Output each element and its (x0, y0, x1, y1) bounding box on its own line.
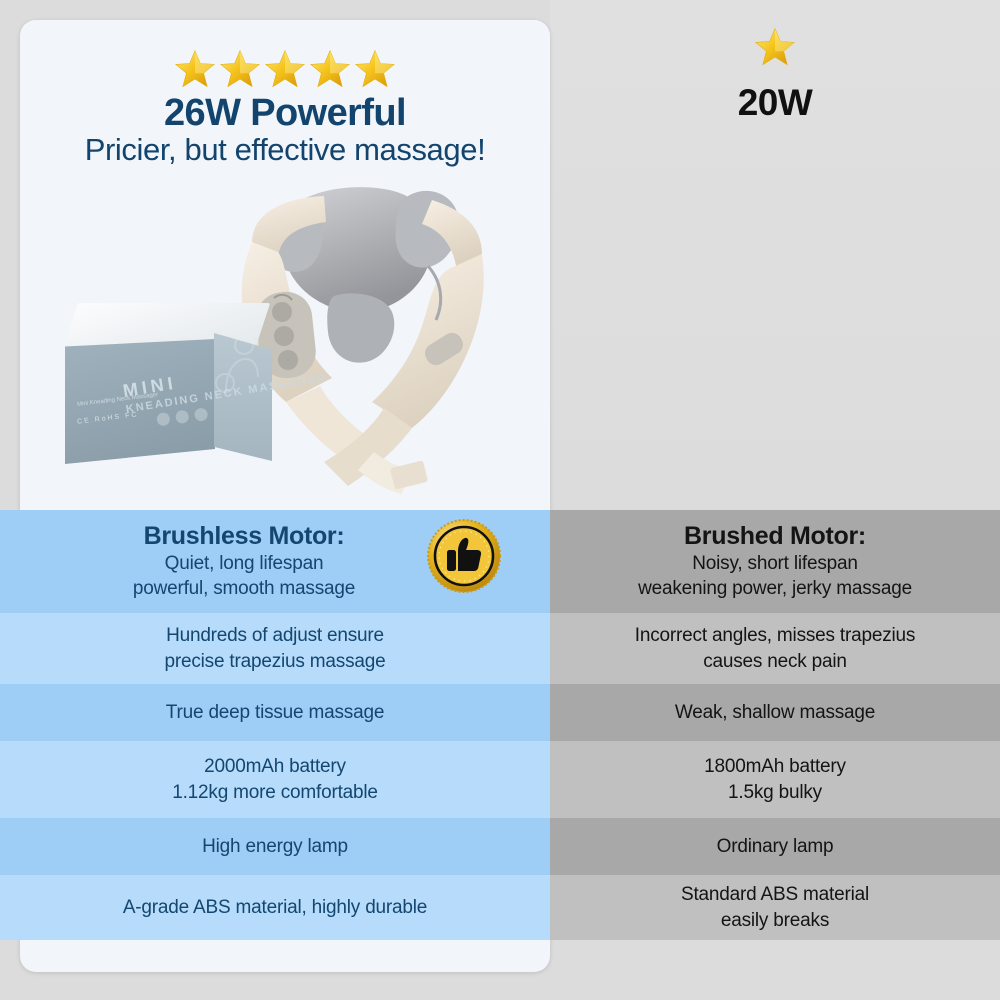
star-icon (174, 48, 216, 90)
comparison-row-text: 2000mAh battery (204, 754, 346, 780)
comparison-row: A-grade ABS material, highly durableStan… (0, 875, 1000, 940)
competitor-hero: 20W (550, 0, 1000, 510)
comparison-row-text: Incorrect angles, misses trapezius (635, 623, 915, 649)
comparison-row-text: 1.12kg more comfortable (172, 780, 378, 806)
comparison-cell-competitor: Brushed Motor:Noisy, short lifespanweake… (550, 510, 1000, 613)
comparison-row-text: Hundreds of adjust ensure (166, 623, 384, 649)
competitor-title: 20W (550, 82, 1000, 124)
comparison-row-text: 1.5kg bulky (728, 780, 822, 806)
comparison-row-text: causes neck pain (703, 649, 847, 675)
comparison-row-text: Standard ABS material (681, 882, 869, 908)
comparison-cell-competitor: Standard ABS materialeasily breaks (550, 875, 1000, 940)
star-icon (219, 48, 261, 90)
thumbs-up-icon (427, 519, 501, 593)
star-icon (754, 26, 796, 68)
comparison-row: 2000mAh battery1.12kg more comfortable18… (0, 741, 1000, 818)
featured-retail-box: MINI KNEADING NECK MASSAGER Mini Kneadin… (65, 303, 270, 468)
retail-box-illustration (214, 333, 260, 395)
comparison-row-text: Weak, shallow massage (675, 700, 875, 726)
comparison-cell-featured: True deep tissue massage (0, 684, 550, 741)
comparison-row-text: 1800mAh battery (704, 754, 846, 780)
star-icon (354, 48, 396, 90)
comparison-cell-competitor: 1800mAh battery1.5kg bulky (550, 741, 1000, 818)
featured-subtitle: Pricier, but effective massage! (20, 132, 550, 168)
comparison-row: High energy lampOrdinary lamp (0, 818, 1000, 875)
infographic-canvas: 20W (0, 0, 1000, 1000)
comparison-cell-featured: A-grade ABS material, highly durable (0, 875, 550, 940)
comparison-cell-featured: High energy lamp (0, 818, 550, 875)
comparison-cell-featured: Hundreds of adjust ensureprecise trapezi… (0, 613, 550, 684)
comparison-row-title: Brushless Motor: (144, 522, 345, 551)
comparison-cell-competitor: Weak, shallow massage (550, 684, 1000, 741)
comparison-row-text: weakening power, jerky massage (638, 577, 912, 601)
comparison-cell-competitor: Incorrect angles, misses trapeziuscauses… (550, 613, 1000, 684)
comparison-row-text: High energy lamp (202, 834, 348, 860)
comparison-row-text: Quiet, long lifespan (165, 552, 324, 576)
comparison-cell-competitor: Ordinary lamp (550, 818, 1000, 875)
comparison-row-text: powerful, smooth massage (133, 577, 355, 601)
comparison-row-text: Ordinary lamp (717, 834, 834, 860)
star-icon (264, 48, 306, 90)
comparison-row: True deep tissue massageWeak, shallow ma… (0, 684, 1000, 741)
comparison-row-text: easily breaks (721, 908, 829, 934)
featured-title: 26W Powerful (20, 92, 550, 135)
comparison-cell-featured: 2000mAh battery1.12kg more comfortable (0, 741, 550, 818)
comparison-row: Hundreds of adjust ensureprecise trapezi… (0, 613, 1000, 684)
comparison-row-text: Noisy, short lifespan (692, 552, 857, 576)
comparison-row-text: A-grade ABS material, highly durable (123, 895, 427, 921)
comparison-row-text: True deep tissue massage (166, 700, 384, 726)
comparison-row-text: precise trapezius massage (165, 649, 386, 675)
comparison-row-title: Brushed Motor: (684, 522, 866, 551)
star-rating (20, 48, 550, 90)
featured-hero: 26W Powerful Pricier, but effective mass… (20, 20, 550, 510)
star-icon (309, 48, 351, 90)
